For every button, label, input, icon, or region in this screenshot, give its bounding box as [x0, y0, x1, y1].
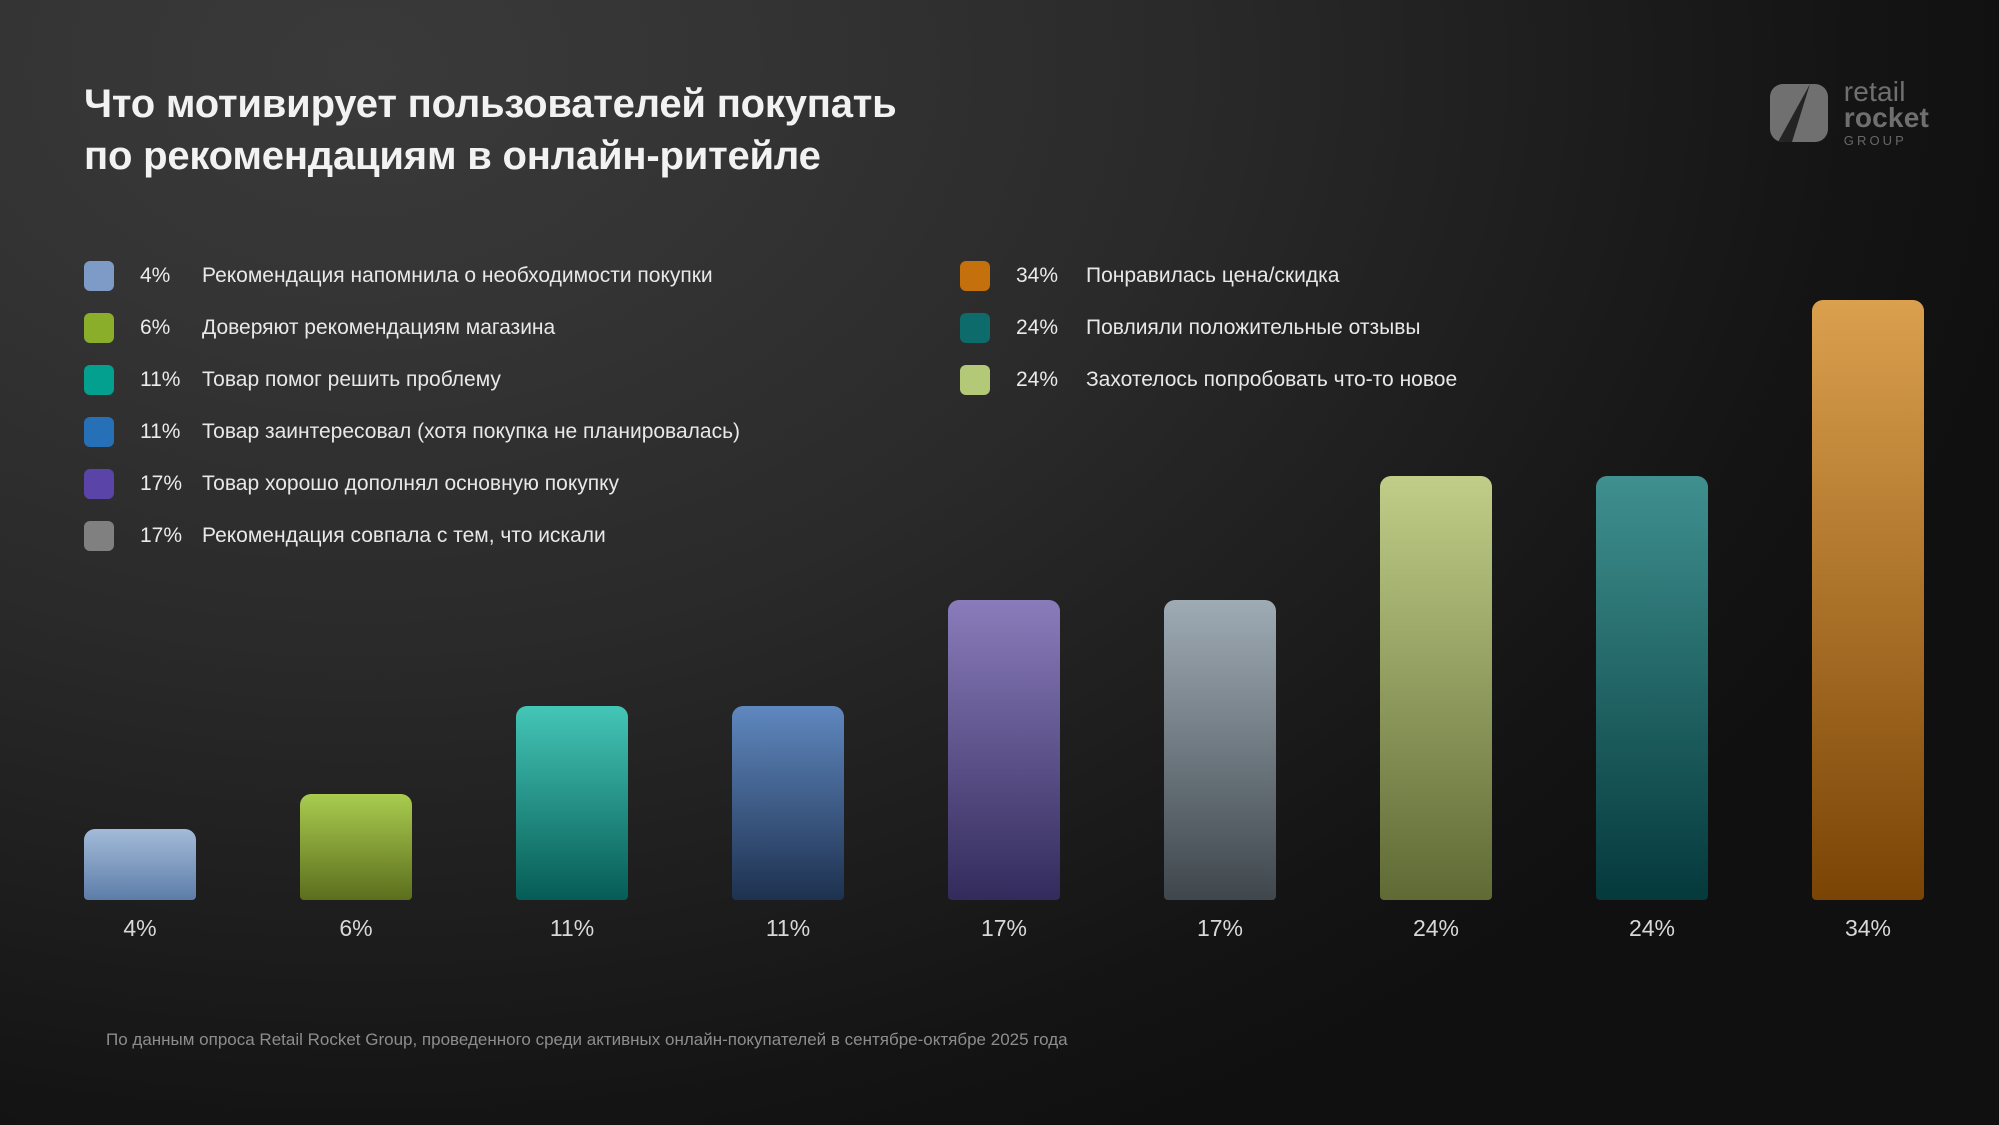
bar-slot [1812, 300, 1924, 900]
bar-value-label: 34% [1812, 915, 1924, 942]
legend-color-swatch [960, 261, 990, 291]
bar-slot [1380, 300, 1492, 900]
bar-value-label: 6% [300, 915, 412, 942]
infographic-canvas: Что мотивирует пользователей покупать по… [0, 0, 1999, 1125]
retail-rocket-logo: retail rocket GROUP [1770, 78, 1929, 147]
bar[interactable] [1380, 476, 1492, 900]
bar-slot [300, 300, 412, 900]
bar-chart-plot-area [84, 300, 1924, 900]
bar-value-label: 24% [1380, 915, 1492, 942]
bar-slot [516, 300, 628, 900]
bar[interactable] [732, 706, 844, 900]
bar[interactable] [1164, 600, 1276, 900]
bar-value-label: 17% [1164, 915, 1276, 942]
bar[interactable] [948, 600, 1060, 900]
logo-word-rocket: rocket [1844, 104, 1929, 132]
legend-label: Рекомендация напомнила о необходимости п… [202, 264, 713, 288]
legend-item[interactable]: 4%Рекомендация напомнила о необходимости… [84, 250, 740, 302]
bar[interactable] [84, 829, 196, 900]
legend-color-swatch [84, 261, 114, 291]
bar-slot [948, 300, 1060, 900]
logo-mark-icon [1770, 84, 1828, 142]
legend-label: Понравилась цена/скидка [1086, 264, 1339, 288]
bar-slot [732, 300, 844, 900]
logo-wordmark: retail rocket GROUP [1844, 78, 1929, 147]
title-line-2: по рекомендациям в онлайн-ритейле [84, 130, 1084, 182]
source-note: По данным опроса Retail Rocket Group, пр… [106, 1030, 1068, 1050]
logo-swoosh-icon [1770, 84, 1828, 142]
page-title: Что мотивирует пользователей покупать по… [84, 78, 1084, 182]
bar-value-label: 11% [732, 915, 844, 942]
bar[interactable] [1812, 300, 1924, 900]
bar[interactable] [300, 794, 412, 900]
bar-slot [84, 300, 196, 900]
bar-slot [1164, 300, 1276, 900]
logo-word-group: GROUP [1844, 134, 1929, 147]
bar-value-label: 11% [516, 915, 628, 942]
bar-value-label: 24% [1596, 915, 1708, 942]
bar-slot [1596, 300, 1708, 900]
bar-value-label: 4% [84, 915, 196, 942]
bar[interactable] [516, 706, 628, 900]
legend-item[interactable]: 34%Понравилась цена/скидка [960, 250, 1457, 302]
bar-value-label: 17% [948, 915, 1060, 942]
bar-chart [84, 300, 1924, 900]
bar-chart-x-axis-labels: 4%6%11%11%17%17%24%24%34% [84, 915, 1924, 942]
legend-percent: 34% [1016, 264, 1086, 288]
legend-percent: 4% [140, 264, 202, 288]
bar[interactable] [1596, 476, 1708, 900]
title-line-1: Что мотивирует пользователей покупать [84, 78, 1084, 130]
